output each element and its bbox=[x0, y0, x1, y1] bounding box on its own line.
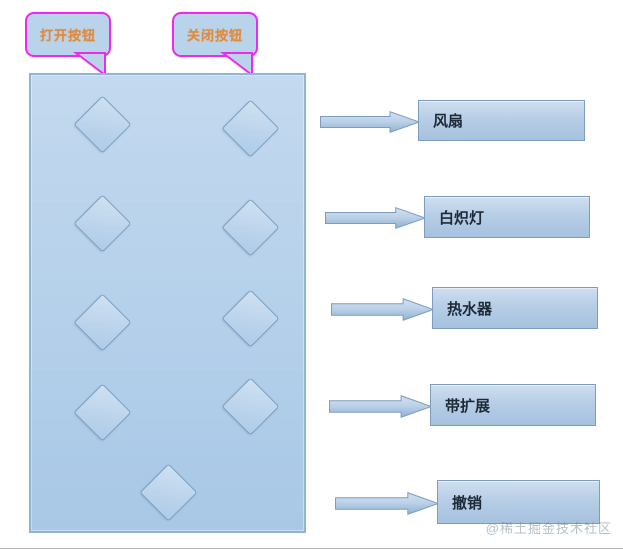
callout-close-button: 关闭按钮 bbox=[172, 12, 258, 57]
callout-open-button-label: 打开按钮 bbox=[40, 25, 96, 44]
remote-control-panel[interactable] bbox=[29, 73, 306, 533]
button-diamond-1[interactable] bbox=[73, 95, 131, 153]
device-row-fan-arrow bbox=[320, 111, 420, 133]
screenshot-root: 打开按钮关闭按钮 风扇白炽灯热水器带扩展撤销 @稀土掘金技术社区 bbox=[0, 0, 623, 549]
device-row-incandescent-lamp-label: 白炽灯 bbox=[425, 207, 484, 228]
device-row-with-extension: 带扩展 bbox=[430, 384, 596, 426]
device-row-fan-label: 风扇 bbox=[419, 110, 463, 131]
device-row-water-heater-label: 热水器 bbox=[433, 298, 492, 319]
device-row-undo-arrow bbox=[335, 492, 439, 515]
device-row-undo-label: 撤销 bbox=[438, 492, 482, 513]
button-diamond-5[interactable] bbox=[73, 293, 131, 351]
button-diamond-9[interactable] bbox=[139, 463, 197, 521]
callout-open-button: 打开按钮 bbox=[25, 12, 111, 57]
device-row-incandescent-lamp-arrow bbox=[325, 207, 426, 229]
button-diamond-6[interactable] bbox=[221, 289, 279, 347]
device-row-undo: 撤销 bbox=[437, 480, 600, 524]
device-row-fan: 风扇 bbox=[418, 100, 585, 141]
device-row-water-heater: 热水器 bbox=[432, 287, 598, 329]
device-row-with-extension-arrow bbox=[329, 395, 432, 418]
device-row-incandescent-lamp: 白炽灯 bbox=[424, 196, 590, 238]
device-row-with-extension-label: 带扩展 bbox=[431, 395, 490, 416]
button-diamond-7[interactable] bbox=[73, 383, 131, 441]
device-row-water-heater-arrow bbox=[331, 298, 434, 321]
button-diamond-4[interactable] bbox=[221, 198, 279, 256]
button-diamond-2[interactable] bbox=[221, 99, 279, 157]
button-diamond-3[interactable] bbox=[73, 194, 131, 252]
button-diamond-8[interactable] bbox=[221, 377, 279, 435]
callout-close-button-label: 关闭按钮 bbox=[187, 25, 243, 44]
